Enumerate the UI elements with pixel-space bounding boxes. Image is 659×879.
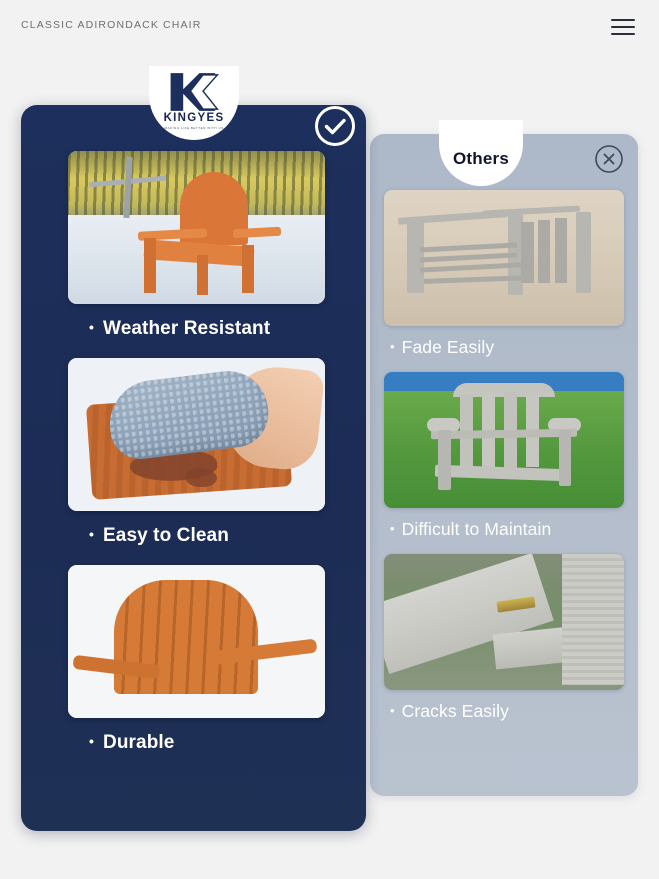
others-badge-label: Others bbox=[453, 149, 509, 169]
logo-tagline: MAKING LIFE BETTER WITH US bbox=[164, 126, 223, 130]
list-item: •Fade Easily bbox=[384, 190, 624, 358]
bullet-dot: • bbox=[89, 526, 94, 542]
list-item: •Difficult to Maintain bbox=[384, 372, 624, 540]
hamburger-menu-icon[interactable] bbox=[611, 19, 635, 35]
close-circle-icon[interactable] bbox=[594, 144, 624, 174]
brand-label: Easy to Clean bbox=[103, 525, 229, 546]
list-item: •Cracks Easily bbox=[384, 554, 624, 722]
others-label: Difficult to Maintain bbox=[402, 519, 552, 539]
bullet-dot: • bbox=[390, 521, 395, 536]
others-panel: •Fade Easily bbox=[370, 134, 638, 796]
list-item: •Weather Resistant bbox=[68, 151, 319, 340]
brand-label: Durable bbox=[103, 732, 174, 753]
product-comparison-page: CLASSIC ADIRONDACK CHAIR bbox=[0, 0, 659, 879]
brand-photo-durable bbox=[68, 565, 325, 718]
bullet-dot: • bbox=[89, 733, 94, 749]
hamburger-bar bbox=[611, 33, 635, 35]
brand-photo-weather bbox=[68, 151, 325, 304]
brand-panel: •Weather Resistant •Easy t bbox=[21, 105, 366, 831]
hamburger-bar bbox=[611, 26, 635, 28]
brand-caption: •Durable bbox=[89, 732, 319, 754]
bullet-dot: • bbox=[89, 319, 94, 335]
others-label: Fade Easily bbox=[402, 337, 495, 357]
bullet-dot: • bbox=[390, 339, 395, 354]
others-caption: •Cracks Easily bbox=[390, 701, 624, 722]
hamburger-bar bbox=[611, 19, 635, 21]
brand-photo-clean bbox=[68, 358, 325, 511]
check-circle-icon[interactable] bbox=[313, 104, 357, 148]
brand-label: Weather Resistant bbox=[103, 318, 270, 339]
others-photo-maintain bbox=[384, 372, 624, 508]
others-photo-fade bbox=[384, 190, 624, 326]
others-label: Cracks Easily bbox=[402, 701, 509, 721]
brand-feature-list: •Weather Resistant •Easy t bbox=[21, 105, 366, 772]
page-title: CLASSIC ADIRONDACK CHAIR bbox=[21, 19, 201, 31]
page-header: CLASSIC ADIRONDACK CHAIR bbox=[0, 0, 659, 52]
logo-wordmark: KINGYES bbox=[164, 112, 225, 124]
list-item: •Durable bbox=[68, 565, 319, 754]
others-caption: •Fade Easily bbox=[390, 337, 624, 358]
others-photo-cracks bbox=[384, 554, 624, 690]
kingyes-k-monogram bbox=[167, 71, 221, 113]
brand-caption: •Weather Resistant bbox=[89, 318, 319, 340]
brand-caption: •Easy to Clean bbox=[89, 525, 319, 547]
list-item: •Easy to Clean bbox=[68, 358, 319, 547]
others-caption: •Difficult to Maintain bbox=[390, 519, 624, 540]
bullet-dot: • bbox=[390, 703, 395, 718]
others-drawback-list: •Fade Easily bbox=[370, 134, 638, 796]
